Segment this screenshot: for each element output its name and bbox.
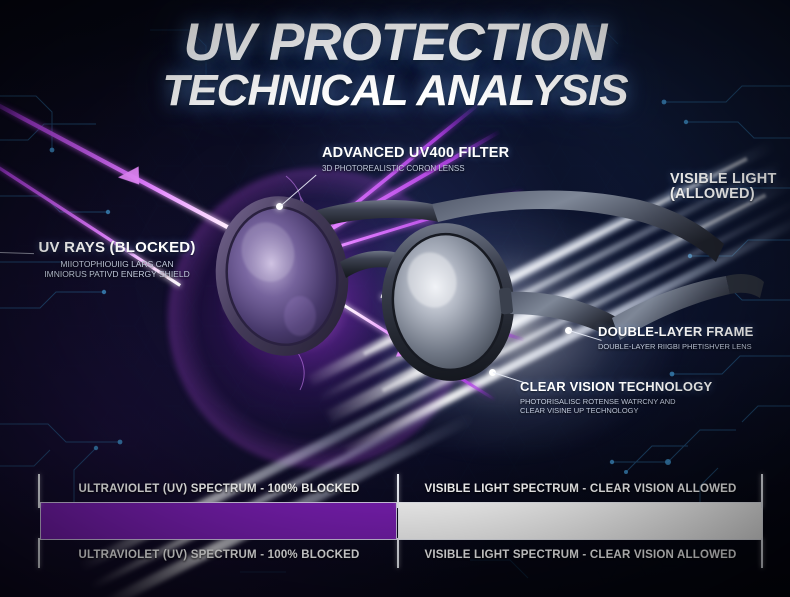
vignette-overlay: [0, 0, 790, 597]
infographic-canvas: UV PROTECTION TECHNICAL ANALYSIS UV RAYS…: [0, 0, 790, 597]
